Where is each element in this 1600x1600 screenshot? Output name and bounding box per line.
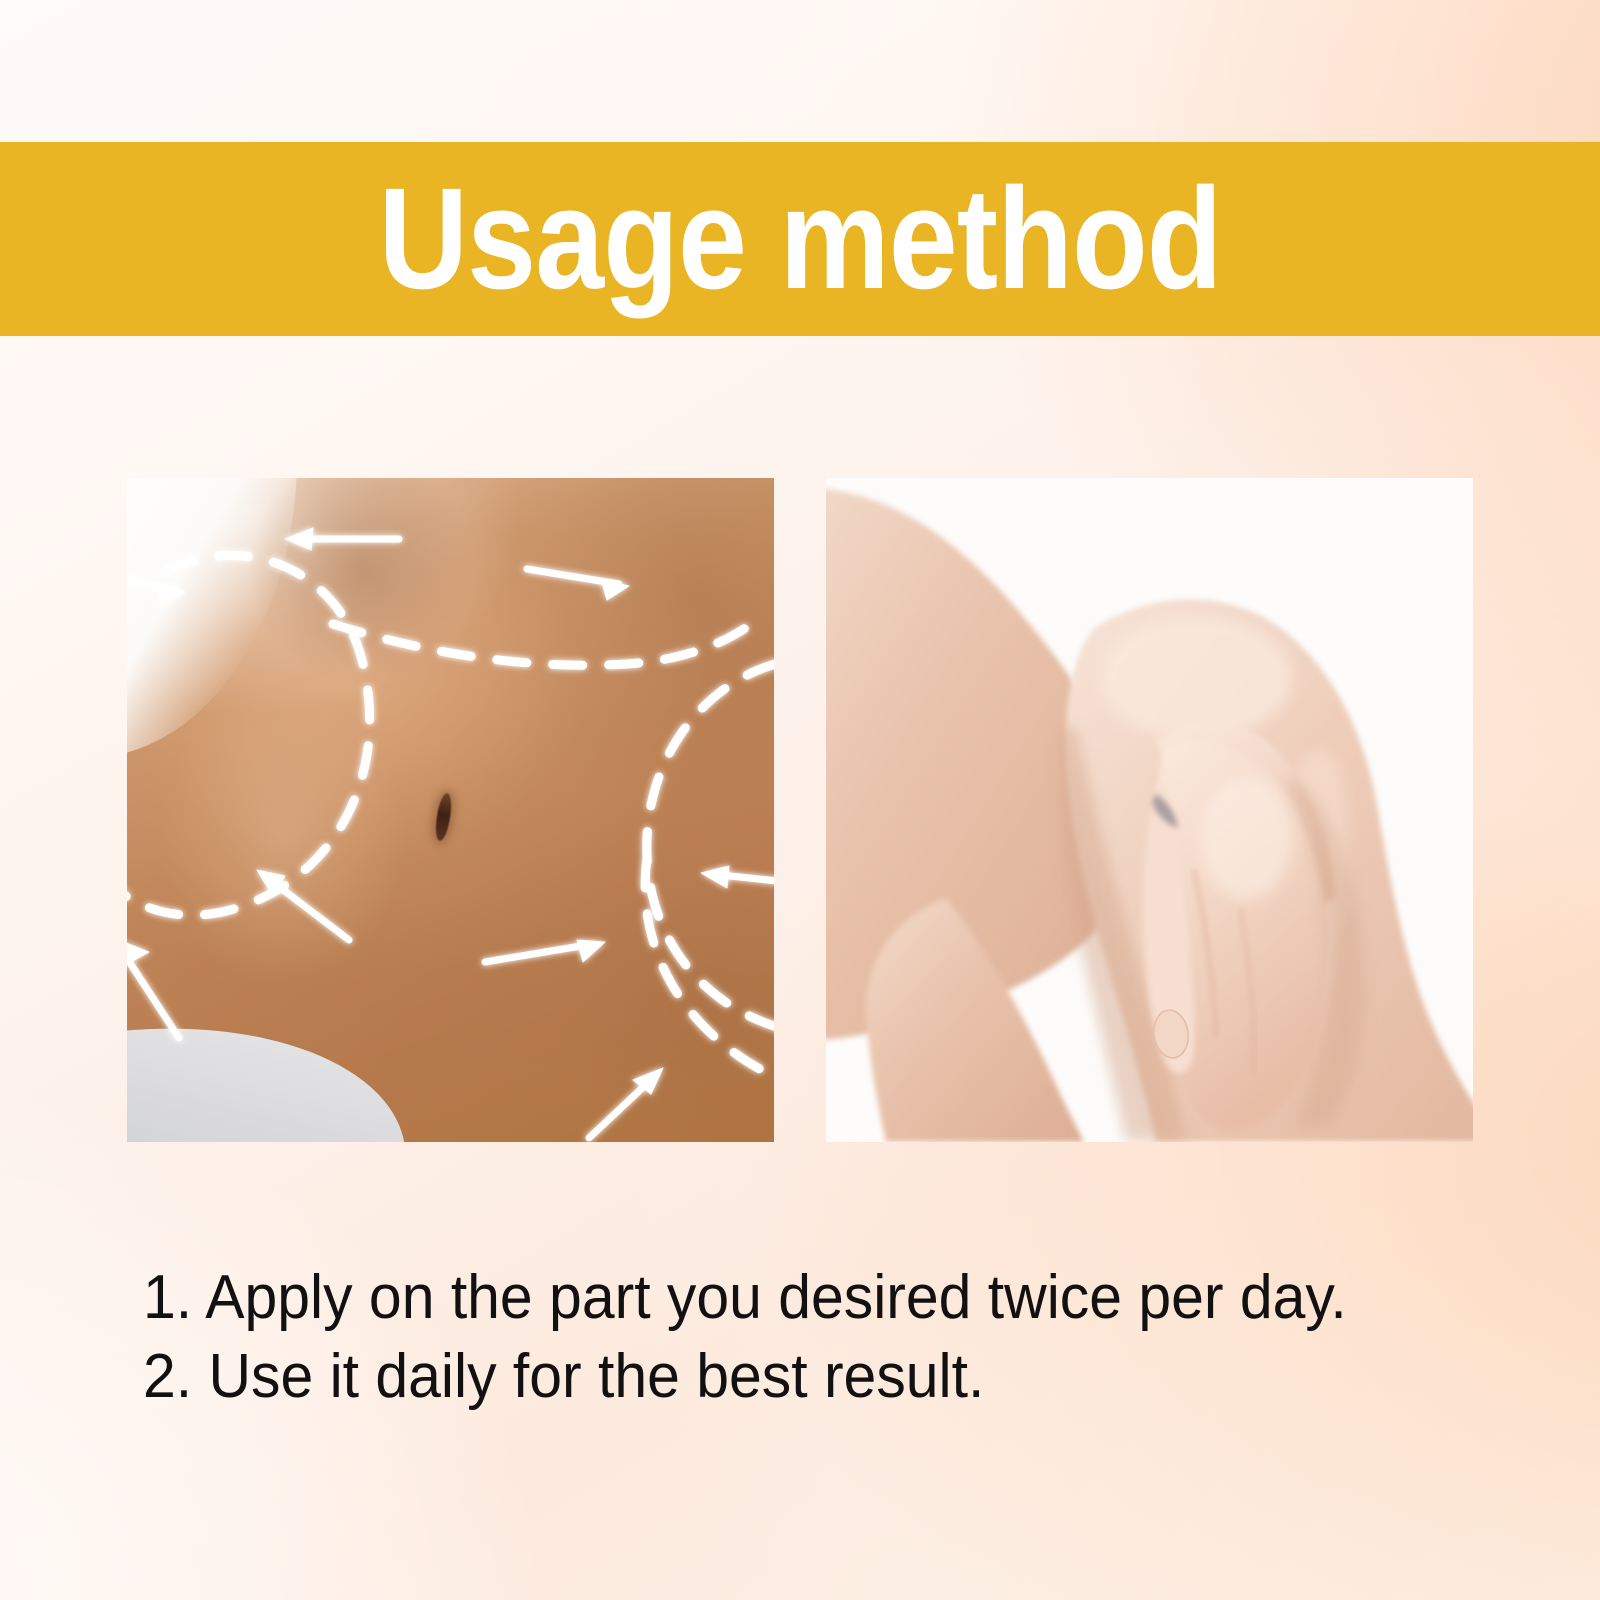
title-banner: Usage method xyxy=(0,142,1600,336)
arrow-right-top xyxy=(527,569,629,600)
instruction-list: 1. Apply on the part you desired twice p… xyxy=(143,1258,1493,1416)
knee-highlight xyxy=(1100,616,1292,740)
abdomen-massage-photo xyxy=(127,478,774,1142)
legs-illustration xyxy=(826,478,1473,1142)
navel-detail xyxy=(433,792,453,841)
skin-shading-lower xyxy=(557,868,774,1142)
instruction-item-1: 1. Apply on the part you desired twice p… xyxy=(143,1258,1426,1337)
photo-gallery xyxy=(127,478,1473,1142)
legs-application-photo xyxy=(826,478,1473,1142)
usage-method-page: Usage method xyxy=(0,0,1600,1600)
hand-highlight xyxy=(1200,776,1292,900)
skin-shading-upper xyxy=(247,478,477,688)
skin-highlight-left xyxy=(157,688,407,988)
page-title: Usage method xyxy=(379,167,1222,311)
instruction-item-2: 2. Use it daily for the best result. xyxy=(143,1337,1426,1416)
waistband-detail xyxy=(127,998,405,1142)
